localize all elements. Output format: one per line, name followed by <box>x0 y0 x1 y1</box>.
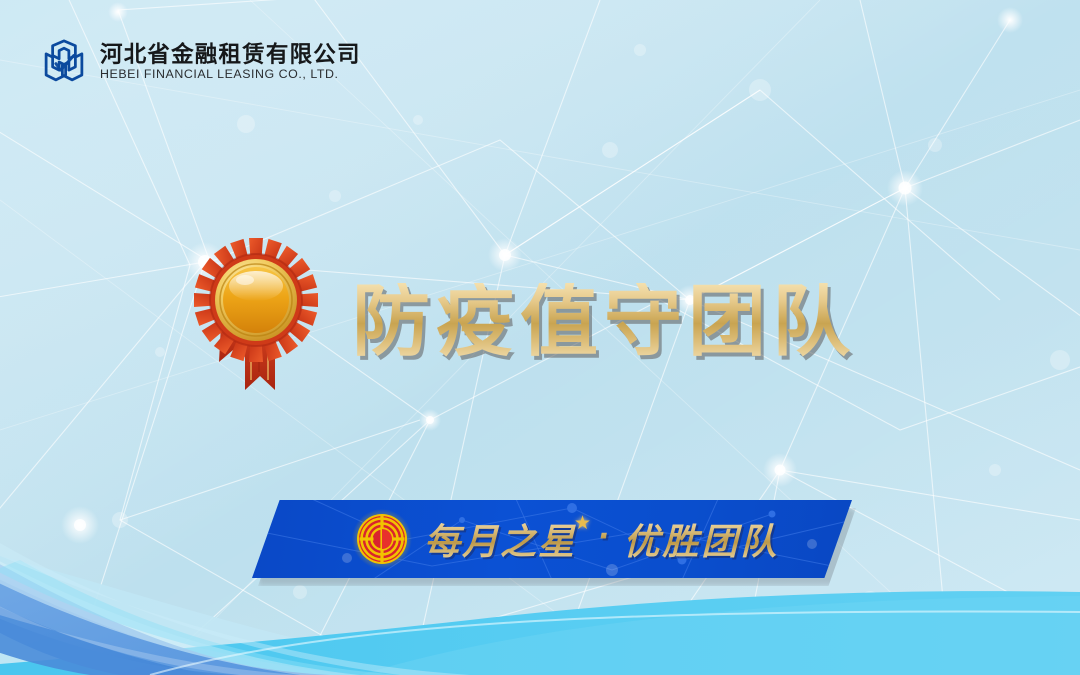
slide-canvas: 河北省金融租赁有限公司 HEBEI FINANCIAL LEASING CO.,… <box>0 0 1080 675</box>
hexagon-logo-icon <box>38 36 90 88</box>
banner-text-left: 每月之星 <box>424 513 576 565</box>
logo-wordmark: 河北省金融租赁有限公司 HEBEI FINANCIAL LEASING CO.,… <box>100 44 361 80</box>
company-name-cn: 河北省金融租赁有限公司 <box>100 44 361 67</box>
award-banner: 每月之星 · 优胜团队 ★ <box>252 500 852 582</box>
gold-star-icon: ★ <box>574 512 591 535</box>
banner-text: 每月之星 · 优胜团队 ★ <box>424 500 779 578</box>
award-rosette-icon <box>183 228 329 394</box>
banner-separator: · <box>598 519 609 554</box>
page-title: 防疫值守团队 <box>352 283 856 361</box>
trade-union-emblem-icon <box>352 509 412 569</box>
banner-text-right: 优胜团队 <box>623 513 779 565</box>
banner-parallelogram: 每月之星 · 优胜团队 ★ <box>252 500 852 578</box>
company-name-en: HEBEI FINANCIAL LEASING CO., LTD. <box>100 68 361 80</box>
company-logo: 河北省金融租赁有限公司 HEBEI FINANCIAL LEASING CO.,… <box>38 36 361 88</box>
